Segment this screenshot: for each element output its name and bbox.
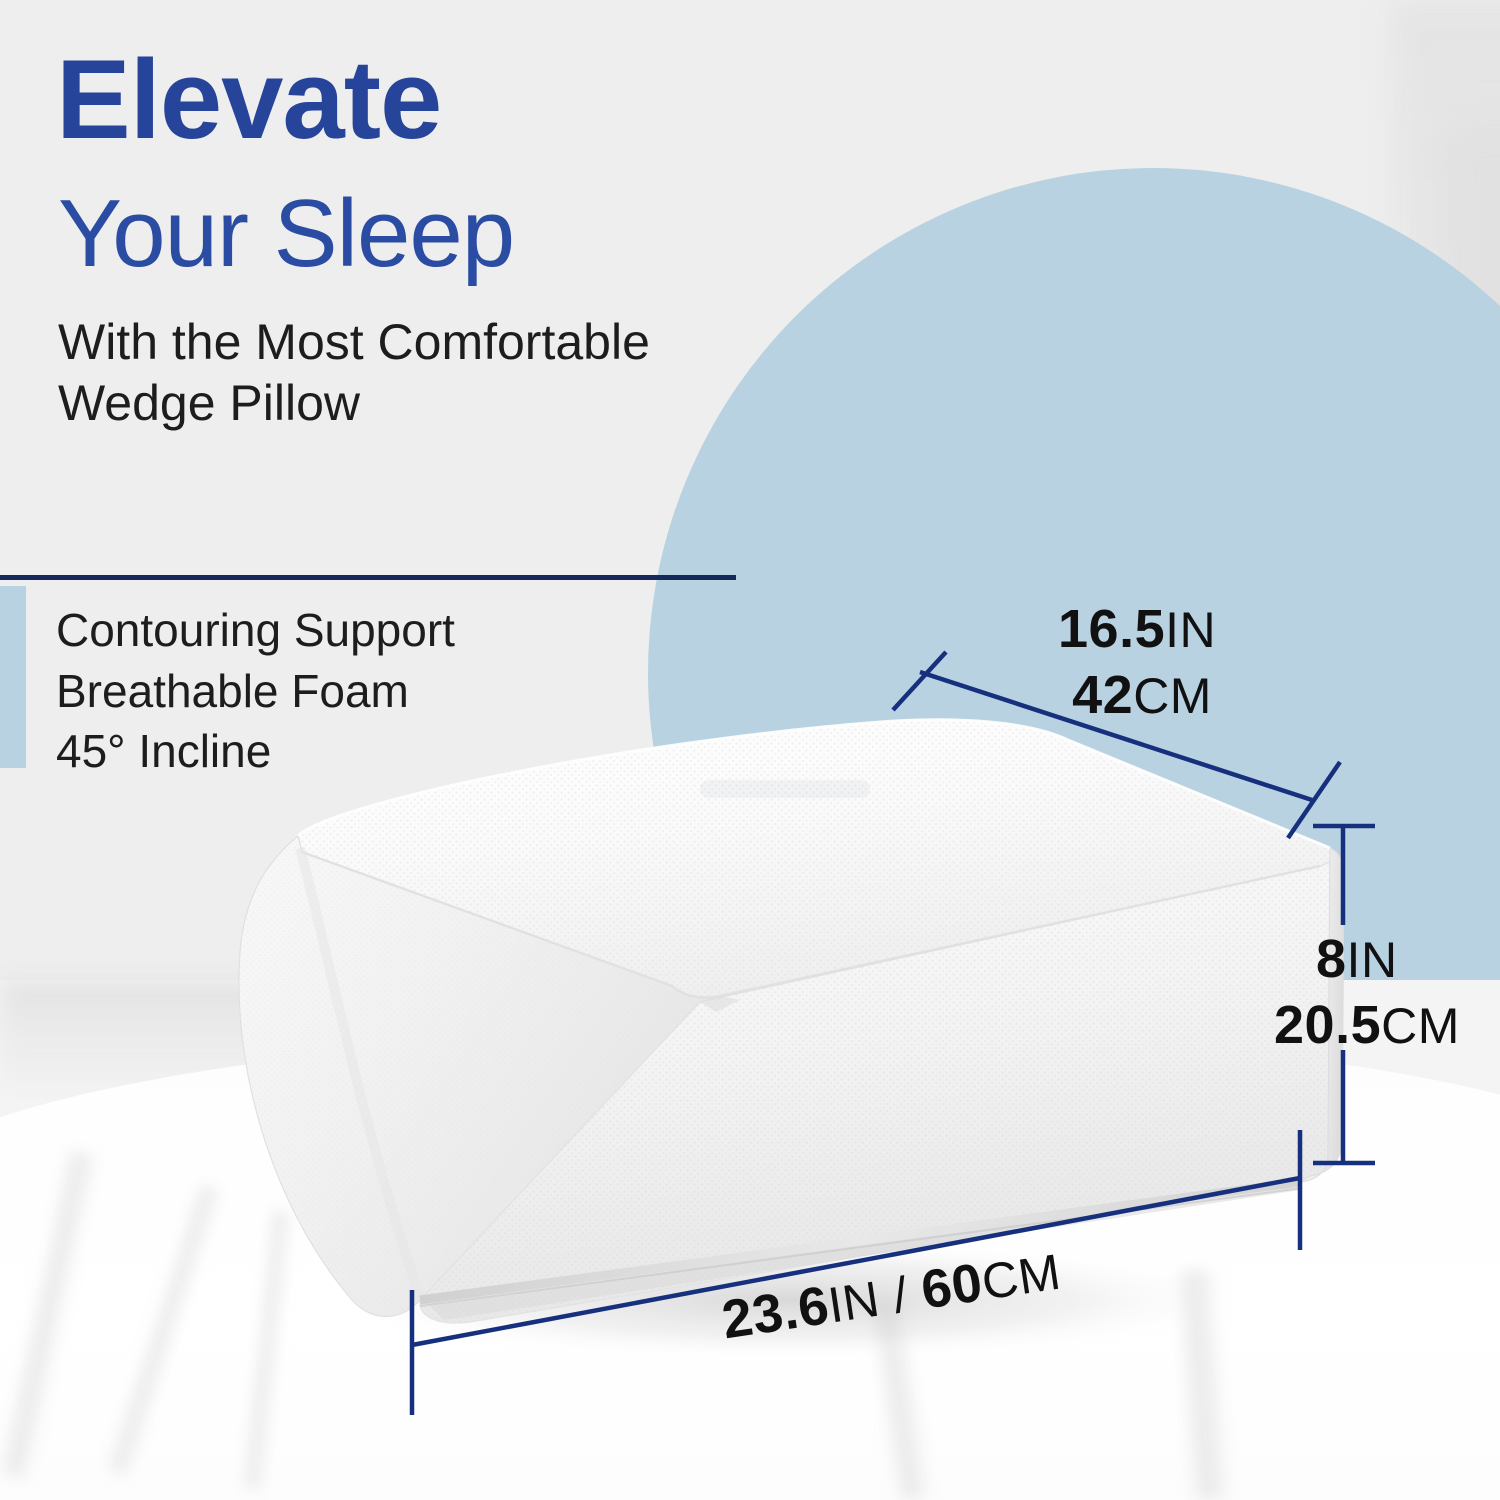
sub-copy-line-2: Wedge Pillow — [58, 373, 650, 434]
feature-item-2: Breathable Foam — [56, 661, 455, 722]
height-inches-unit: IN — [1347, 932, 1398, 988]
product-infographic: Elevate Your Sleep With the Most Comfort… — [0, 0, 1500, 1500]
depth-dimension-label: 16.5IN 42CM — [1058, 598, 1216, 726]
feature-item-1: Contouring Support — [56, 600, 455, 661]
depth-cm-unit: CM — [1133, 668, 1212, 724]
page-subtitle: Your Sleep — [58, 186, 514, 282]
depth-inches-unit: IN — [1165, 602, 1216, 658]
depth-inches-row: 16.5IN — [1058, 598, 1216, 660]
sub-copy: With the Most Comfortable Wedge Pillow — [58, 312, 650, 434]
height-cm-row: 20.5CM — [1274, 994, 1460, 1056]
feature-item-3: 45° Incline — [56, 721, 455, 782]
page-title: Elevate — [56, 44, 441, 156]
width-inches-unit: IN — [825, 1271, 884, 1334]
sub-copy-line-1: With the Most Comfortable — [58, 312, 650, 373]
height-cm-value: 20.5 — [1274, 995, 1381, 1055]
depth-cm-row: 42CM — [1068, 664, 1216, 726]
height-inches-value: 8 — [1316, 929, 1347, 989]
width-cm-unit: CM — [978, 1244, 1064, 1311]
height-inches-row: 8IN — [1316, 928, 1460, 990]
feature-list: Contouring Support Breathable Foam 45° I… — [56, 600, 455, 782]
feature-accent-bar — [0, 586, 26, 768]
bed-sheet-curve — [0, 1030, 1500, 1500]
height-dimension-label: 8IN 20.5CM — [1316, 928, 1460, 1056]
depth-cm-value: 42 — [1072, 665, 1133, 725]
depth-inches-value: 16.5 — [1058, 599, 1165, 659]
height-cm-unit: CM — [1381, 998, 1460, 1054]
section-divider — [0, 575, 736, 580]
width-cm-value: 60 — [917, 1252, 986, 1320]
